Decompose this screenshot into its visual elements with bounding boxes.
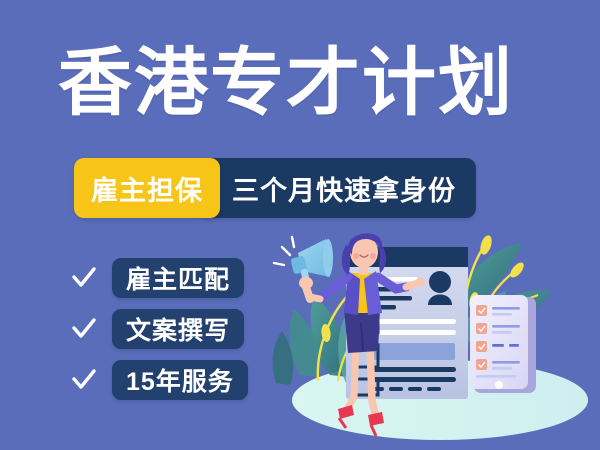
check-icon xyxy=(70,264,98,292)
list-item: 文案撰写 xyxy=(70,309,248,349)
tablet-checklist xyxy=(470,295,536,393)
check-icon xyxy=(70,315,98,343)
badge-navy: 三个月快速拿身份 xyxy=(198,158,476,218)
badge-row: 三个月快速拿身份 雇主担保 xyxy=(74,158,476,218)
feature-pill: 15年服务 xyxy=(112,360,248,400)
page-title: 香港专才计划 xyxy=(58,38,558,128)
feature-pill: 文案撰写 xyxy=(112,309,244,349)
illustration xyxy=(260,225,600,450)
check-icon xyxy=(70,366,98,394)
list-item: 雇主匹配 xyxy=(70,258,248,298)
feature-pill: 雇主匹配 xyxy=(112,258,244,298)
badge-yellow: 雇主担保 xyxy=(74,158,220,218)
megaphone-icon xyxy=(274,237,333,299)
list-item: 15年服务 xyxy=(70,360,248,400)
poster-canvas: 香港专才计划 三个月快速拿身份 雇主担保 雇主匹配 文案撰写 15年服务 xyxy=(0,0,600,450)
feature-list: 雇主匹配 文案撰写 15年服务 xyxy=(70,258,248,400)
